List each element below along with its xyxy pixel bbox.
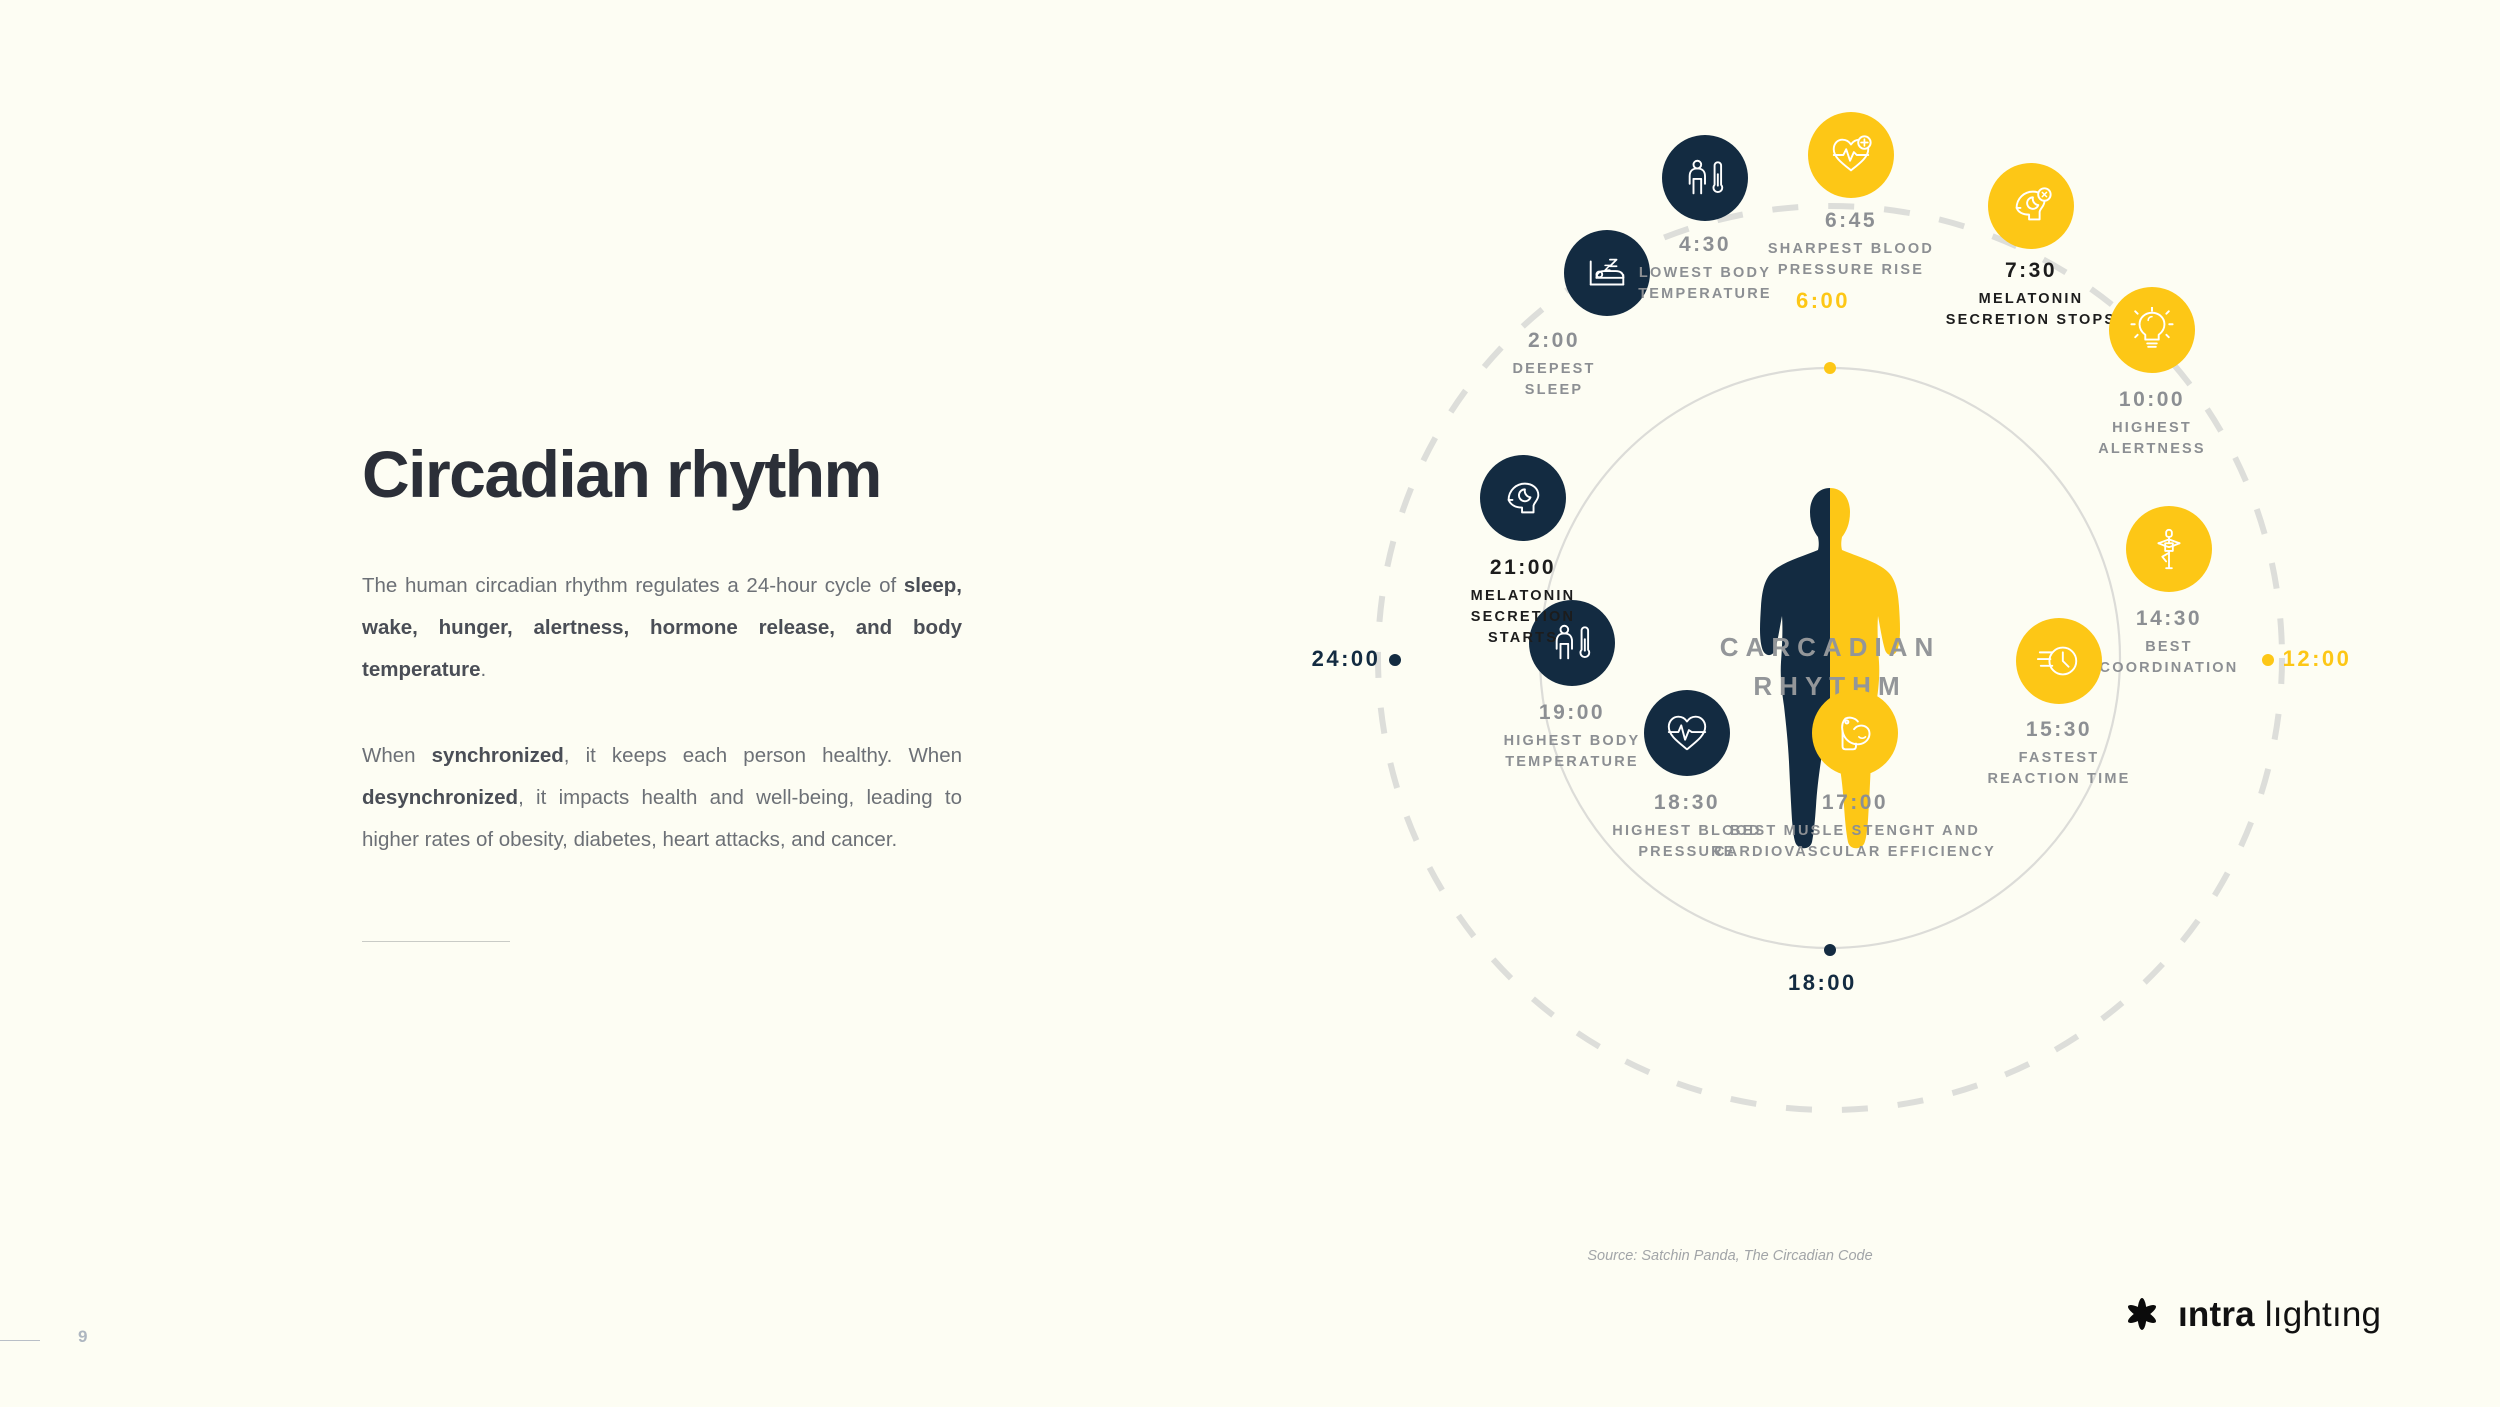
page-number-rule <box>0 1340 40 1341</box>
axis-dot-6 <box>1824 362 1836 374</box>
node-time-10-00: 10:00 <box>2002 387 2302 413</box>
node-time-6-45: 6:45 <box>1701 208 2001 234</box>
slide-root: Circadian rhythm The human circadian rhy… <box>0 0 2500 1407</box>
axis-dot-18 <box>1824 944 1836 956</box>
node-desc-21-00: MELATONINSECRETIONSTARTS <box>1373 586 1673 649</box>
logo-wordmark: ıntra lıghtıng <box>2178 1297 2381 1332</box>
node-desc-19-00: HIGHEST BODYTEMPERATURE <box>1422 731 1722 773</box>
node-icon-7-30[interactable] <box>1988 163 2074 249</box>
head-moon-icon <box>1500 475 1546 521</box>
node-desc-15-30: FASTESTREACTION TIME <box>1909 748 2209 790</box>
node-label-21-00: 21:00 MELATONINSECRETIONSTARTS <box>1373 555 1673 649</box>
para1-part2: . <box>481 658 487 681</box>
speed-clock-icon <box>2036 638 2082 684</box>
logo-word-intra: ıntra <box>2178 1295 2255 1334</box>
brand-logo: ıntra lıghtıng <box>2122 1294 2381 1334</box>
para1-part1: The human circadian rhythm regulates a 2… <box>362 574 904 597</box>
node-icon-21-00[interactable] <box>1480 455 1566 541</box>
node-icon-17-00[interactable] <box>1812 690 1898 776</box>
node-icon-6-45[interactable] <box>1808 112 1894 198</box>
logo-word-lighting: lıghtıng <box>2265 1295 2381 1334</box>
axis-marker-24-label: 24:00 <box>1312 646 1381 671</box>
para2-part2: , it keeps each person healthy. When <box>564 744 962 767</box>
axis-marker-24: 24:00 <box>1241 646 1401 672</box>
circadian-diagram: CARCADIAN RHYTHM 6:00 12:00 18:00 24:00 <box>1240 180 2420 1280</box>
para2-bold2: desynchronized <box>362 786 518 809</box>
asterisk-icon <box>2122 1294 2162 1334</box>
para2-part1: When <box>362 744 432 767</box>
node-label-15-30: 15:30 FASTESTREACTION TIME <box>1909 717 2209 790</box>
node-time-2-00: 2:00 <box>1404 328 1704 354</box>
page-title: Circadian rhythm <box>362 440 962 509</box>
para2-bold1: synchronized <box>432 744 564 767</box>
paragraph-one: The human circadian rhythm regulates a 2… <box>362 565 962 691</box>
section-divider <box>362 941 510 942</box>
axis-marker-18: 18:00 <box>1788 970 1857 996</box>
node-time-15-30: 15:30 <box>1909 717 2209 743</box>
text-column: Circadian rhythm The human circadian rhy… <box>362 440 962 942</box>
node-desc-10-00: HIGHESTALERTNESS <box>2002 418 2302 460</box>
node-time-7-30: 7:30 <box>1881 258 2181 284</box>
heart-plus-pulse-icon <box>1828 132 1874 178</box>
yoga-tree-pose-icon <box>2146 526 2192 572</box>
node-label-10-00: 10:00 HIGHESTALERTNESS <box>2002 387 2302 460</box>
axis-marker-18-label: 18:00 <box>1788 970 1857 995</box>
node-desc-18-30: HIGHEST BLOODPRESSURE <box>1537 821 1837 863</box>
node-time-18-30: 18:30 <box>1537 790 1837 816</box>
node-icon-10-00[interactable] <box>2109 287 2195 373</box>
node-icon-14-30[interactable] <box>2126 506 2212 592</box>
lightbulb-icon <box>2129 307 2175 353</box>
center-caption-line1: CARCADIAN <box>1620 628 2040 667</box>
node-label-2-00: 2:00 DEEPESTSLEEP <box>1404 328 1704 401</box>
node-desc-2-00: DEEPESTSLEEP <box>1404 359 1704 401</box>
axis-dot-24 <box>1389 654 1401 666</box>
node-label-18-30: 18:30 HIGHEST BLOODPRESSURE <box>1537 790 1837 863</box>
page-number: 9 <box>78 1327 87 1347</box>
node-label-19-00: 19:00 HIGHEST BODYTEMPERATURE <box>1422 700 1722 773</box>
flex-bicep-icon <box>1832 710 1878 756</box>
paragraph-two: When synchronized, it keeps each person … <box>362 735 962 861</box>
node-icon-15-30[interactable] <box>2016 618 2102 704</box>
source-caption: Source: Satchin Panda, The Circadian Cod… <box>1560 1248 1900 1264</box>
head-moon-stop-icon <box>2008 183 2054 229</box>
node-time-21-00: 21:00 <box>1373 555 1673 581</box>
node-time-19-00: 19:00 <box>1422 700 1722 726</box>
body-thermometer-icon <box>1682 155 1728 201</box>
